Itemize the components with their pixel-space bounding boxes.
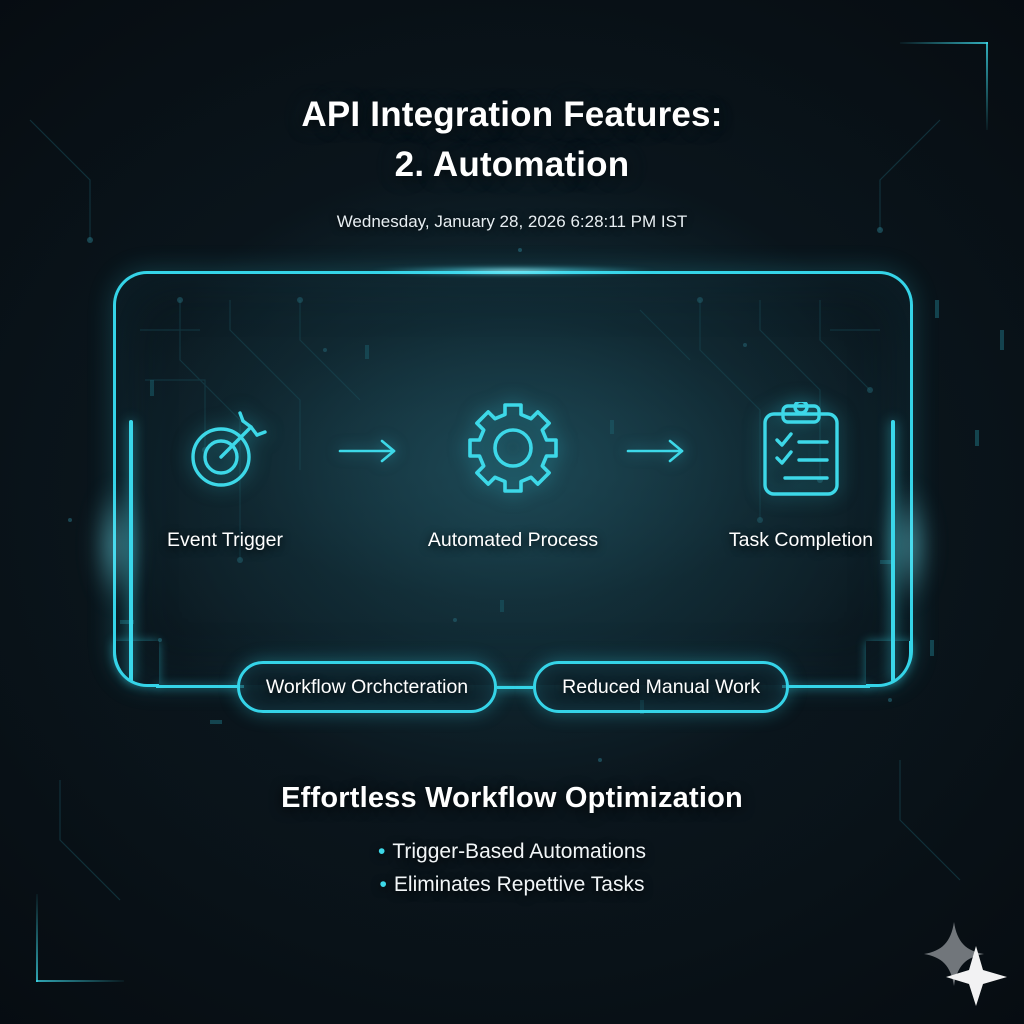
footer-section: Effortless Workflow Optimization •Trigge… bbox=[0, 782, 1024, 901]
corner-bracket-icon bbox=[36, 894, 124, 982]
feature-pill-label: Reduced Manual Work bbox=[562, 676, 760, 699]
list-item: •Trigger-Based Automations bbox=[0, 835, 1024, 868]
list-item-label: Trigger-Based Automations bbox=[392, 840, 646, 863]
flow-step-label: Automated Process bbox=[428, 529, 598, 552]
automation-flow: Event Trigger Automated Process bbox=[113, 395, 913, 575]
list-item: •Eliminates Repettive Tasks bbox=[0, 868, 1024, 901]
footer-heading: Effortless Workflow Optimization bbox=[0, 782, 1024, 815]
feature-pill-label: Workflow Orchcteration bbox=[266, 676, 468, 699]
bullet-icon: • bbox=[378, 840, 385, 863]
list-item-label: Eliminates Repettive Tasks bbox=[394, 873, 645, 896]
flow-step-label: Task Completion bbox=[729, 529, 873, 552]
pill-connector bbox=[497, 686, 533, 689]
footer-bullet-list: •Trigger-Based Automations •Eliminates R… bbox=[0, 835, 1024, 901]
timestamp-text: Wednesday, January 28, 2026 6:28:11 PM I… bbox=[0, 212, 1024, 232]
arrow-right-icon bbox=[611, 395, 703, 507]
bullet-icon: • bbox=[380, 873, 387, 896]
flow-step-event-trigger[interactable]: Event Trigger bbox=[127, 395, 323, 552]
poster-header: API Integration Features: 2. Automation … bbox=[0, 0, 1024, 232]
flow-step-automated-process[interactable]: Automated Process bbox=[415, 395, 611, 552]
flow-step-task-completion[interactable]: Task Completion bbox=[703, 395, 899, 552]
page-title-line-1: API Integration Features: bbox=[0, 90, 1024, 140]
page-title-line-2: 2. Automation bbox=[0, 140, 1024, 190]
feature-pill-group: Workflow Orchcteration Reduced Manual Wo… bbox=[113, 661, 913, 713]
feature-pill-workflow-orchestration[interactable]: Workflow Orchcteration bbox=[237, 661, 497, 713]
feature-pill-reduced-manual-work[interactable]: Reduced Manual Work bbox=[533, 661, 789, 713]
target-icon bbox=[177, 395, 273, 507]
poster-background: API Integration Features: 2. Automation … bbox=[0, 0, 1024, 1024]
clipboard-checklist-icon bbox=[755, 395, 847, 507]
gear-icon bbox=[461, 395, 565, 507]
sparkle-star-watermark bbox=[916, 910, 1012, 1006]
page-title: API Integration Features: 2. Automation bbox=[0, 90, 1024, 190]
arrow-right-icon bbox=[323, 395, 415, 507]
flow-step-label: Event Trigger bbox=[167, 529, 283, 552]
